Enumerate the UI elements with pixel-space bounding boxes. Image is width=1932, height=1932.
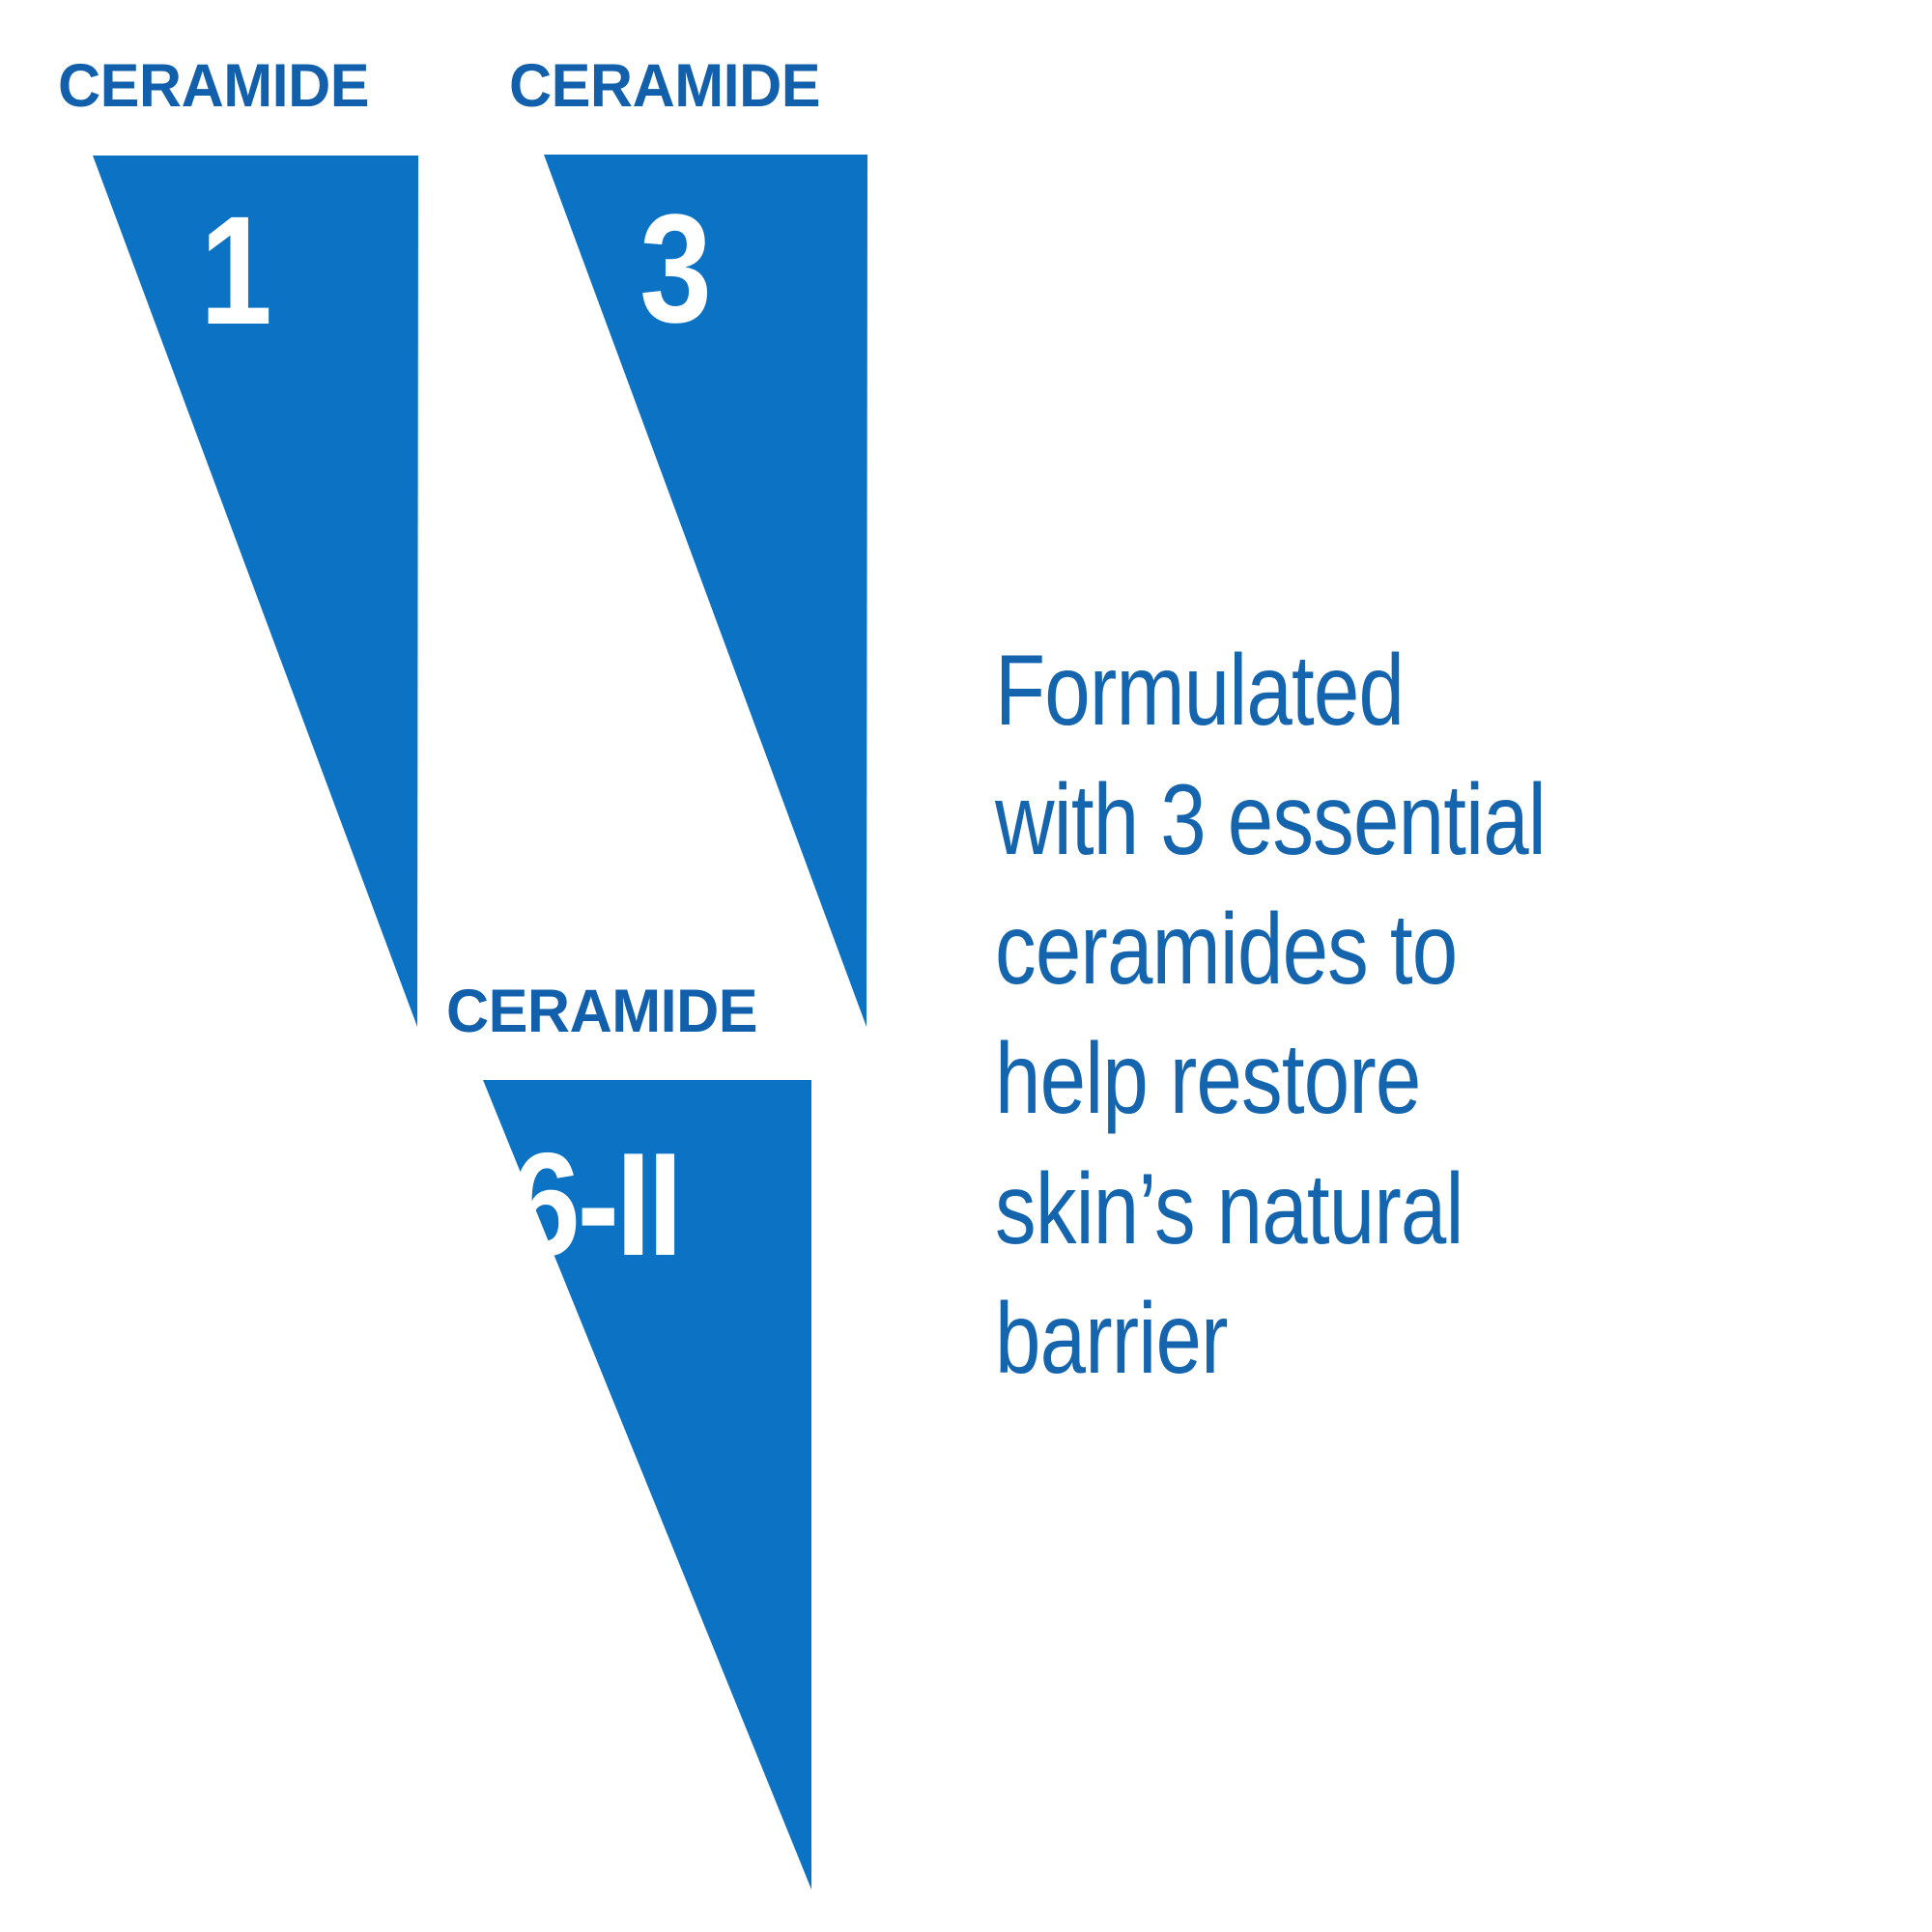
- ceramide-numeral-6ii: 6-II: [510, 1131, 679, 1278]
- copy-line-4: help restore: [995, 1014, 1692, 1144]
- ceramide-label-1: CERAMIDE: [58, 56, 369, 117]
- copy-line-5: skin’s natural: [995, 1145, 1692, 1274]
- copy-line-6: barrier: [995, 1274, 1692, 1404]
- marketing-copy: Formulated with 3 essential ceramides to…: [995, 626, 1692, 1404]
- copy-line-3: ceramides to: [995, 885, 1692, 1014]
- ceramide-label-6ii: CERAMIDE: [446, 981, 757, 1042]
- ceramide-numeral-1: 1: [200, 193, 272, 348]
- copy-line-1: Formulated: [995, 626, 1692, 755]
- ceramide-numeral-3: 3: [639, 191, 712, 346]
- copy-line-2: with 3 essential: [995, 755, 1692, 885]
- ceramide-infographic: CERAMIDE 1 CERAMIDE 3 CERAMIDE 6-II Form…: [0, 0, 1932, 1932]
- ceramide-label-3: CERAMIDE: [509, 56, 820, 117]
